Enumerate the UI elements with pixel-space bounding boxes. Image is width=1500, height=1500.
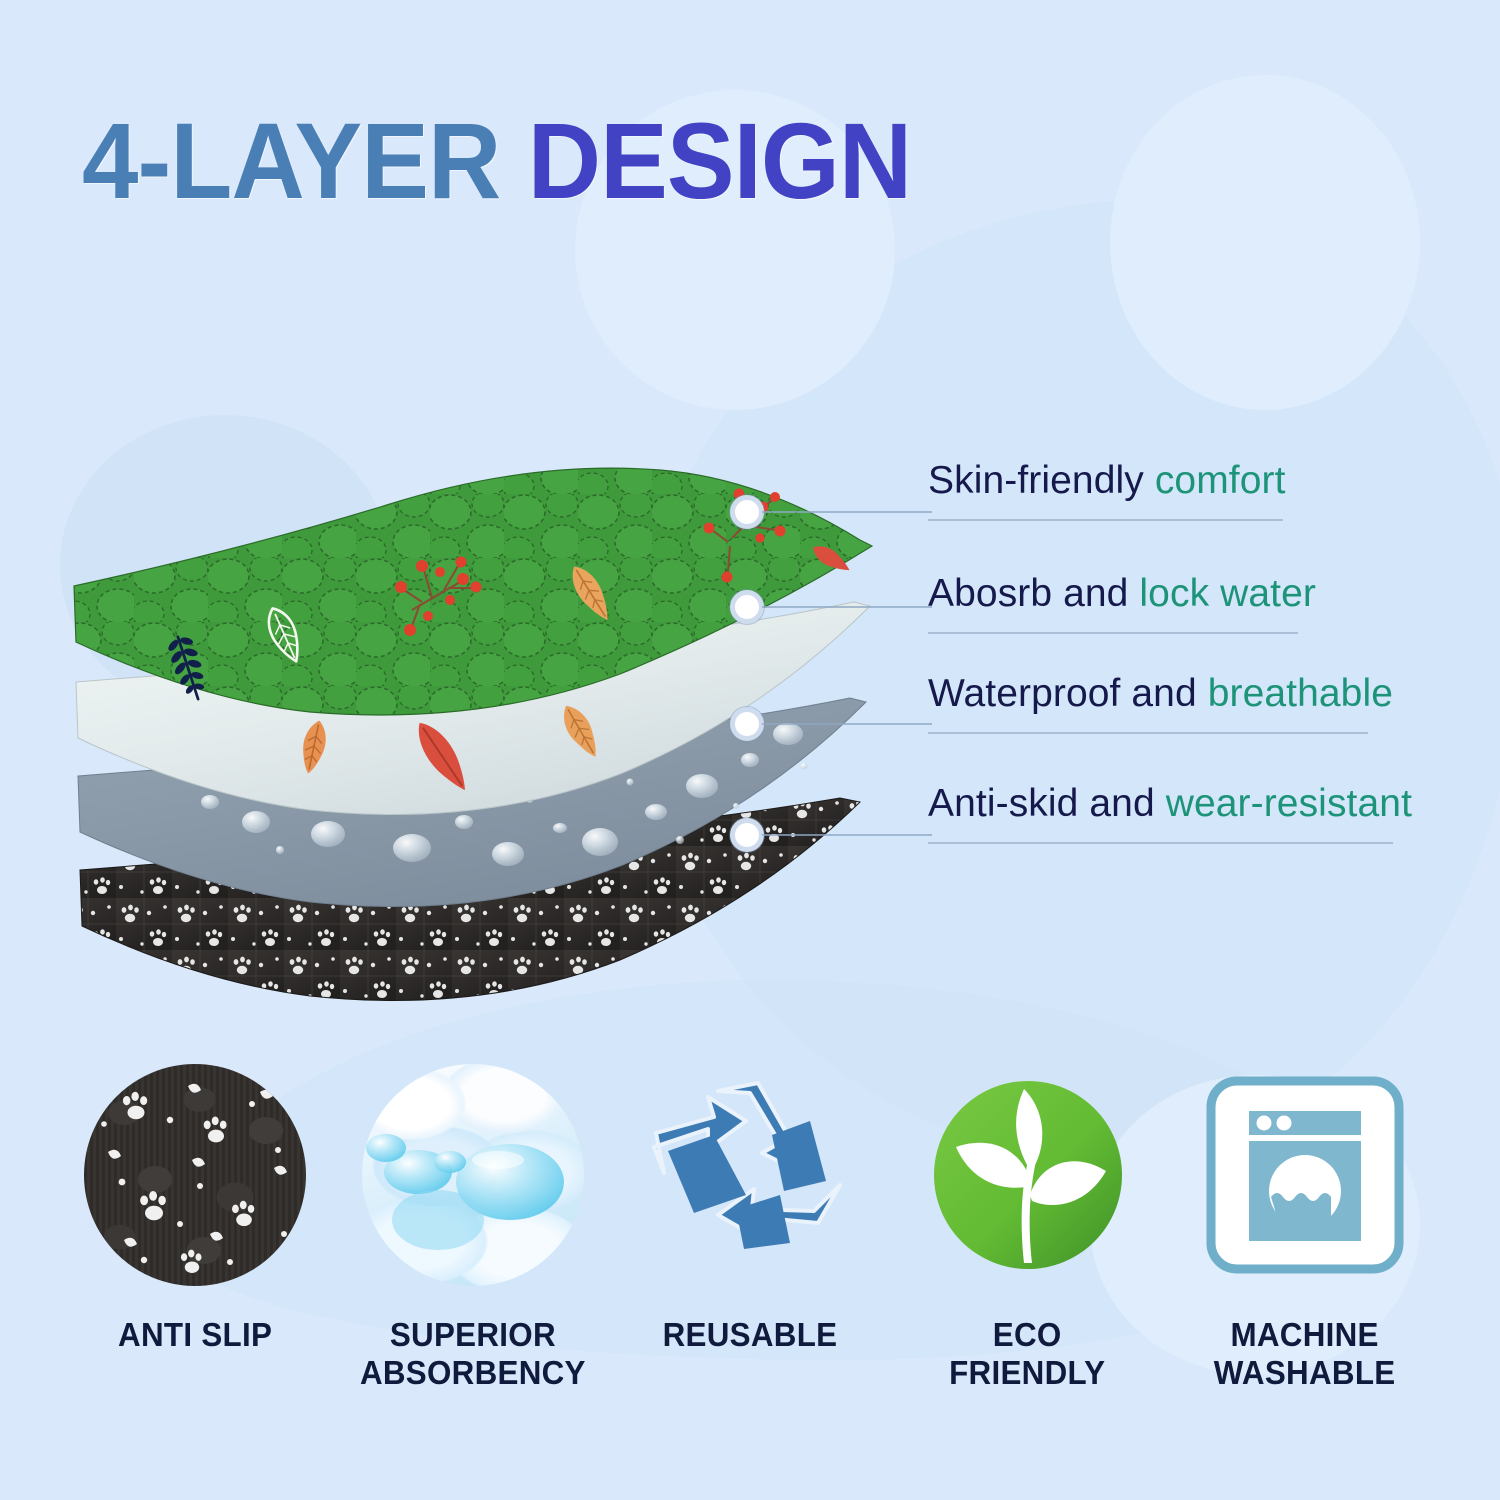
feature-label-reusable: REUSABLE	[663, 1316, 838, 1354]
feature-eco-friendly: ECO FRIENDLY	[893, 1060, 1163, 1460]
callout-underline-2	[928, 632, 1298, 634]
callout-leader-line-1	[762, 511, 932, 513]
washing-machine-icon	[1190, 1060, 1420, 1290]
feature-label-machine-washable: MACHINE WASHABLE	[1214, 1316, 1396, 1393]
callout-dot-2[interactable]	[730, 590, 764, 624]
feature-label-anti-slip: ANTI SLIP	[118, 1316, 272, 1354]
recycle-icon	[635, 1060, 865, 1290]
infographic-canvas: 4-LAYER DESIGN	[0, 0, 1500, 1500]
feature-superior-absorbency: SUPERIOR ABSORBENCY	[338, 1060, 608, 1460]
callout-underline-1	[928, 519, 1283, 521]
callout-leader-line-3	[762, 723, 932, 725]
callout-underline-3	[928, 732, 1368, 734]
eco-leaf-icon	[913, 1060, 1143, 1290]
feature-anti-slip: ANTI SLIP	[60, 1060, 330, 1460]
callout-dot-1[interactable]	[730, 495, 764, 529]
feature-reusable: REUSABLE	[615, 1060, 885, 1460]
callout-label-3: Waterproof and breathable	[928, 672, 1393, 716]
feature-row: ANTI SLIP	[0, 1060, 1500, 1460]
callout-label-4: Anti-skid and wear-resistant	[928, 782, 1412, 826]
callout-dot-4[interactable]	[730, 818, 764, 852]
callout-label-2: Abosrb and lock water	[928, 572, 1316, 616]
callout-dot-3[interactable]	[730, 707, 764, 741]
feature-label-superior-absorbency: SUPERIOR ABSORBENCY	[360, 1316, 586, 1393]
callout-leader-line-2	[762, 606, 932, 608]
callout-underline-4	[928, 842, 1393, 844]
anti-slip-fabric-icon	[80, 1060, 310, 1290]
feature-machine-washable: MACHINE WASHABLE	[1170, 1060, 1440, 1460]
feature-label-eco-friendly: ECO FRIENDLY	[949, 1316, 1105, 1393]
callout-leader-line-4	[762, 834, 932, 836]
callout-label-1: Skin-friendly comfort	[928, 459, 1286, 503]
absorbent-bubbles-icon	[358, 1060, 588, 1290]
